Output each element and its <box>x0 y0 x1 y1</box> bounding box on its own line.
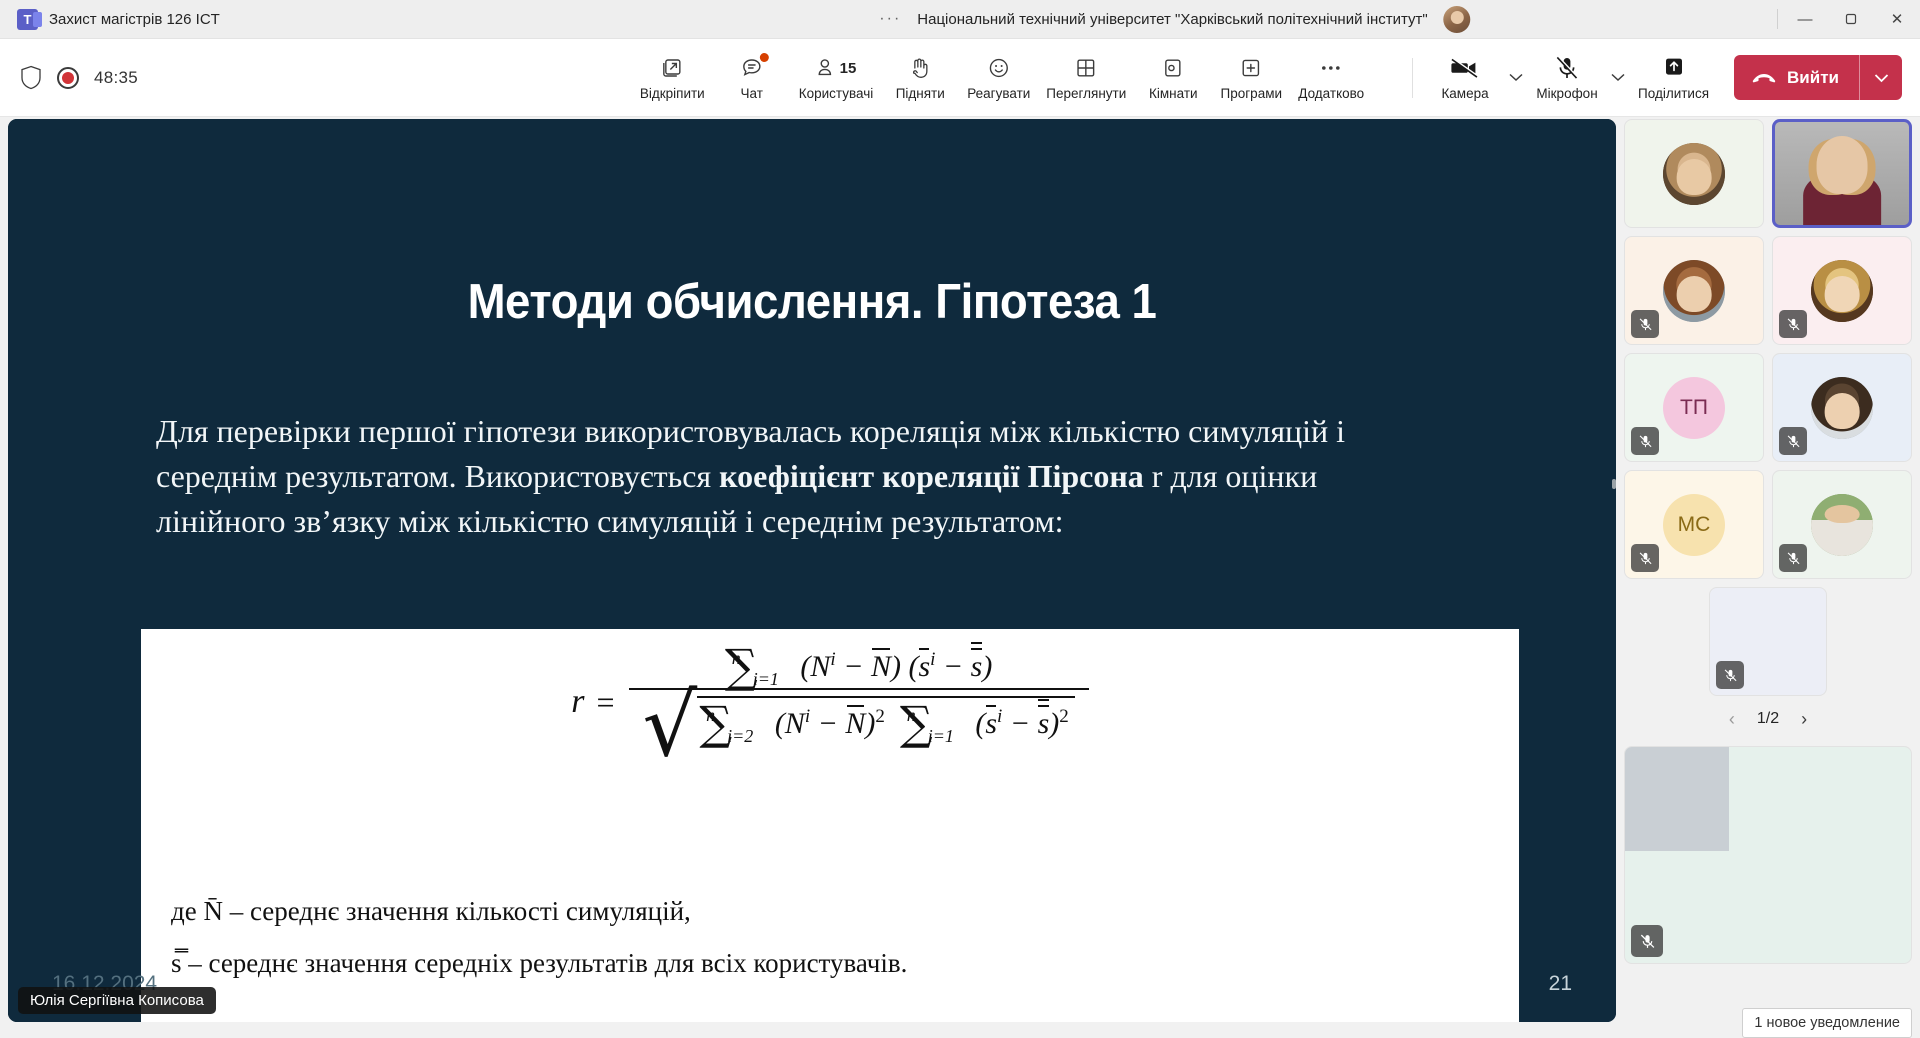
meeting-title: Захист магістрів 126 ICT <box>49 11 220 28</box>
sum-upper-limit: n <box>732 648 741 668</box>
mic-muted-icon <box>1779 544 1807 572</box>
avatar <box>1625 747 1729 851</box>
square-root: √ ∑ni=2 (Ni − N)2 ∑ni=1 (si − s)2 <box>643 696 1075 758</box>
slide-paragraph: Для перевірки першої гіпотези використов… <box>156 409 1396 544</box>
chat-label: Чат <box>741 86 763 101</box>
toolbar-right: Камера Мікрофон <box>1408 52 1920 103</box>
toolbar-left: 48:35 <box>0 65 138 90</box>
mic-muted-icon <box>1631 925 1663 957</box>
sum-upper-limit: n <box>907 705 916 725</box>
leave-button[interactable]: Вийти <box>1734 55 1859 100</box>
minimize-button[interactable]: — <box>1782 0 1828 39</box>
video-face <box>1817 136 1868 194</box>
microphone-options-button[interactable] <box>1605 54 1631 102</box>
chat-unread-badge <box>760 53 769 62</box>
camera-options-button[interactable] <box>1503 54 1529 102</box>
avatar <box>1811 260 1873 322</box>
chevron-down-icon <box>1509 73 1523 82</box>
close-button[interactable]: ✕ <box>1874 0 1920 39</box>
participant-tile-active-speaker[interactable] <box>1772 119 1912 228</box>
slide-title: Методи обчислення. Гіпотеза 1 <box>64 274 1559 330</box>
formula-numerator: ∑ni=1 (Ni − N) (si − s) <box>711 647 1006 688</box>
microphone-button[interactable]: Мікрофон <box>1529 52 1605 103</box>
formula-legend: де N̄ – середнє значення кількості симул… <box>171 886 1499 989</box>
sum-lower-limit-1: i=1 <box>753 669 779 689</box>
camera-label: Камера <box>1441 86 1488 101</box>
breakout-rooms-icon <box>1161 55 1185 81</box>
participant-tile[interactable] <box>1624 236 1764 345</box>
notification-toast[interactable]: 1 новое уведомление <box>1742 1008 1912 1038</box>
title-bar: T Захист магістрів 126 ICT ··· Національ… <box>0 0 1920 39</box>
avatar <box>1663 260 1725 322</box>
pager-label: 1/2 <box>1757 710 1779 728</box>
share-button[interactable]: Поділитися <box>1631 52 1716 103</box>
emoji-icon <box>987 55 1011 81</box>
legend-line-1: де N̄ – середнє значення кількості симул… <box>171 886 1499 937</box>
microphone-label: Мікрофон <box>1536 86 1597 101</box>
camera-off-icon <box>1450 55 1480 81</box>
chevron-down-icon <box>1611 73 1625 82</box>
chat-button[interactable]: Чат <box>714 52 790 103</box>
avatar <box>1811 494 1873 556</box>
restore-icon <box>1844 12 1858 26</box>
view-button[interactable]: Переглянути <box>1039 52 1133 103</box>
sum-lower-limit-3: i=1 <box>928 726 954 746</box>
mic-muted-icon <box>1716 661 1744 689</box>
hangup-icon <box>1751 71 1777 85</box>
leave-meeting-group: Вийти <box>1734 55 1902 100</box>
paragraph-bold: коефіцієнт кореляції Пірсона <box>719 458 1144 494</box>
pearson-correlation-formula: r = ∑ni=1 (Ni − N) (si − s) √ ∑ni=2 (Ni … <box>141 647 1519 758</box>
participant-tile-spotlight[interactable] <box>1624 746 1912 964</box>
grid-view-icon <box>1074 55 1098 81</box>
participant-tile[interactable]: МС <box>1624 470 1764 579</box>
formula-lhs: r <box>571 683 584 721</box>
title-bar-center: ··· Національний технічний університет "… <box>879 6 1470 33</box>
participant-tile[interactable] <box>1772 470 1912 579</box>
participant-tile[interactable] <box>1709 587 1827 696</box>
mic-muted-icon <box>1779 427 1807 455</box>
camera-button[interactable]: Камера <box>1427 52 1503 103</box>
shared-content-stage[interactable]: Методи обчислення. Гіпотеза 1 Для переві… <box>8 119 1616 1022</box>
avatar-initials: МС <box>1663 494 1725 556</box>
raise-hand-button[interactable]: Підняти <box>882 52 958 103</box>
apps-button[interactable]: Програми <box>1213 52 1289 103</box>
organization-name: Національний технічний університет "Харк… <box>917 11 1427 28</box>
formula-card: r = ∑ni=1 (Ni − N) (si − s) √ ∑ni=2 (Ni … <box>141 629 1519 1022</box>
participant-tile[interactable] <box>1772 236 1912 345</box>
popout-label: Відкріпити <box>640 86 705 101</box>
chevron-down-icon <box>1874 73 1889 83</box>
meeting-toolbar: 48:35 Відкріпити Чат <box>0 39 1920 117</box>
recording-indicator-icon <box>57 67 79 89</box>
slide-page-number: 21 <box>1549 972 1572 996</box>
raise-hand-icon <box>909 55 931 81</box>
apps-label: Програми <box>1221 86 1282 101</box>
toolbar-actions: Відкріпити Чат 15 Користувачі <box>633 52 1371 103</box>
chat-icon <box>740 55 764 81</box>
popout-button[interactable]: Відкріпити <box>633 52 712 103</box>
formula-denominator: √ ∑ni=2 (Ni − N)2 ∑ni=1 (si − s)2 <box>629 690 1089 758</box>
share-screen-icon <box>1661 55 1687 81</box>
participant-tile[interactable]: ТП <box>1624 353 1764 462</box>
view-label: Переглянути <box>1046 86 1126 101</box>
leave-label: Вийти <box>1787 68 1839 88</box>
mic-muted-icon <box>1779 310 1807 338</box>
title-bar-left: T Захист магістрів 126 ICT <box>0 9 220 30</box>
sum-upper-limit: n <box>706 705 715 725</box>
participants-button[interactable]: 15 Користувачі <box>792 52 881 103</box>
participants-grid: ТП МС <box>1624 119 1912 579</box>
apps-plus-icon <box>1239 55 1263 81</box>
pager-next-button[interactable]: › <box>1801 709 1807 730</box>
presentation-slide: Методи обчислення. Гіпотеза 1 Для переві… <box>8 119 1616 1022</box>
presenter-name-chip: Юлія Сергіївна Кописова <box>18 987 216 1014</box>
popout-icon <box>660 55 684 81</box>
more-button[interactable]: Додатково <box>1291 52 1371 103</box>
shield-icon[interactable] <box>20 65 42 90</box>
participants-rail: ТП МС <box>1624 119 1912 1022</box>
participants-count: 15 <box>840 60 857 77</box>
pager-prev-button[interactable]: ‹ <box>1729 709 1735 730</box>
mic-muted-icon <box>1631 544 1659 572</box>
radical-icon: √ <box>643 696 698 758</box>
divider <box>1412 58 1413 98</box>
participants-pager: ‹ 1/2 › <box>1624 696 1912 742</box>
rooms-label: Кімнати <box>1149 86 1198 101</box>
overflow-menu-icon[interactable]: ··· <box>879 11 901 27</box>
participant-tile[interactable] <box>1772 353 1912 462</box>
formula-fraction: ∑ni=1 (Ni − N) (si − s) √ ∑ni=2 (Ni − N)… <box>629 647 1089 758</box>
formula-equals: = <box>596 684 614 721</box>
share-label: Поділитися <box>1638 86 1709 101</box>
react-button[interactable]: Реагувати <box>960 52 1037 103</box>
window-controls: — ✕ <box>1773 0 1920 38</box>
more-horizontal-icon <box>1318 55 1344 81</box>
mic-muted-icon <box>1631 427 1659 455</box>
raise-hand-label: Підняти <box>896 86 945 101</box>
rooms-button[interactable]: Кімнати <box>1135 52 1211 103</box>
avatar <box>1811 377 1873 439</box>
react-label: Реагувати <box>967 86 1030 101</box>
more-label: Додатково <box>1298 86 1364 101</box>
legend-line-2: s̿ – середнє значення середніх результат… <box>171 938 1499 989</box>
divider <box>1777 9 1778 29</box>
teams-logo-icon: T <box>17 9 38 30</box>
avatar <box>1663 143 1725 205</box>
avatar[interactable] <box>1444 6 1471 33</box>
leave-options-button[interactable] <box>1860 55 1902 100</box>
microphone-off-icon <box>1554 55 1580 81</box>
restore-button[interactable] <box>1828 0 1874 39</box>
people-icon: 15 <box>816 55 857 81</box>
stage-scroll-indicator[interactable] <box>1612 479 1616 489</box>
participant-tile[interactable] <box>1624 119 1764 228</box>
meeting-timer: 48:35 <box>94 68 138 88</box>
mic-muted-icon <box>1631 310 1659 338</box>
sum-lower-limit-2: i=2 <box>727 726 753 746</box>
avatar-initials: ТП <box>1663 377 1725 439</box>
participants-label: Користувачі <box>799 86 874 101</box>
